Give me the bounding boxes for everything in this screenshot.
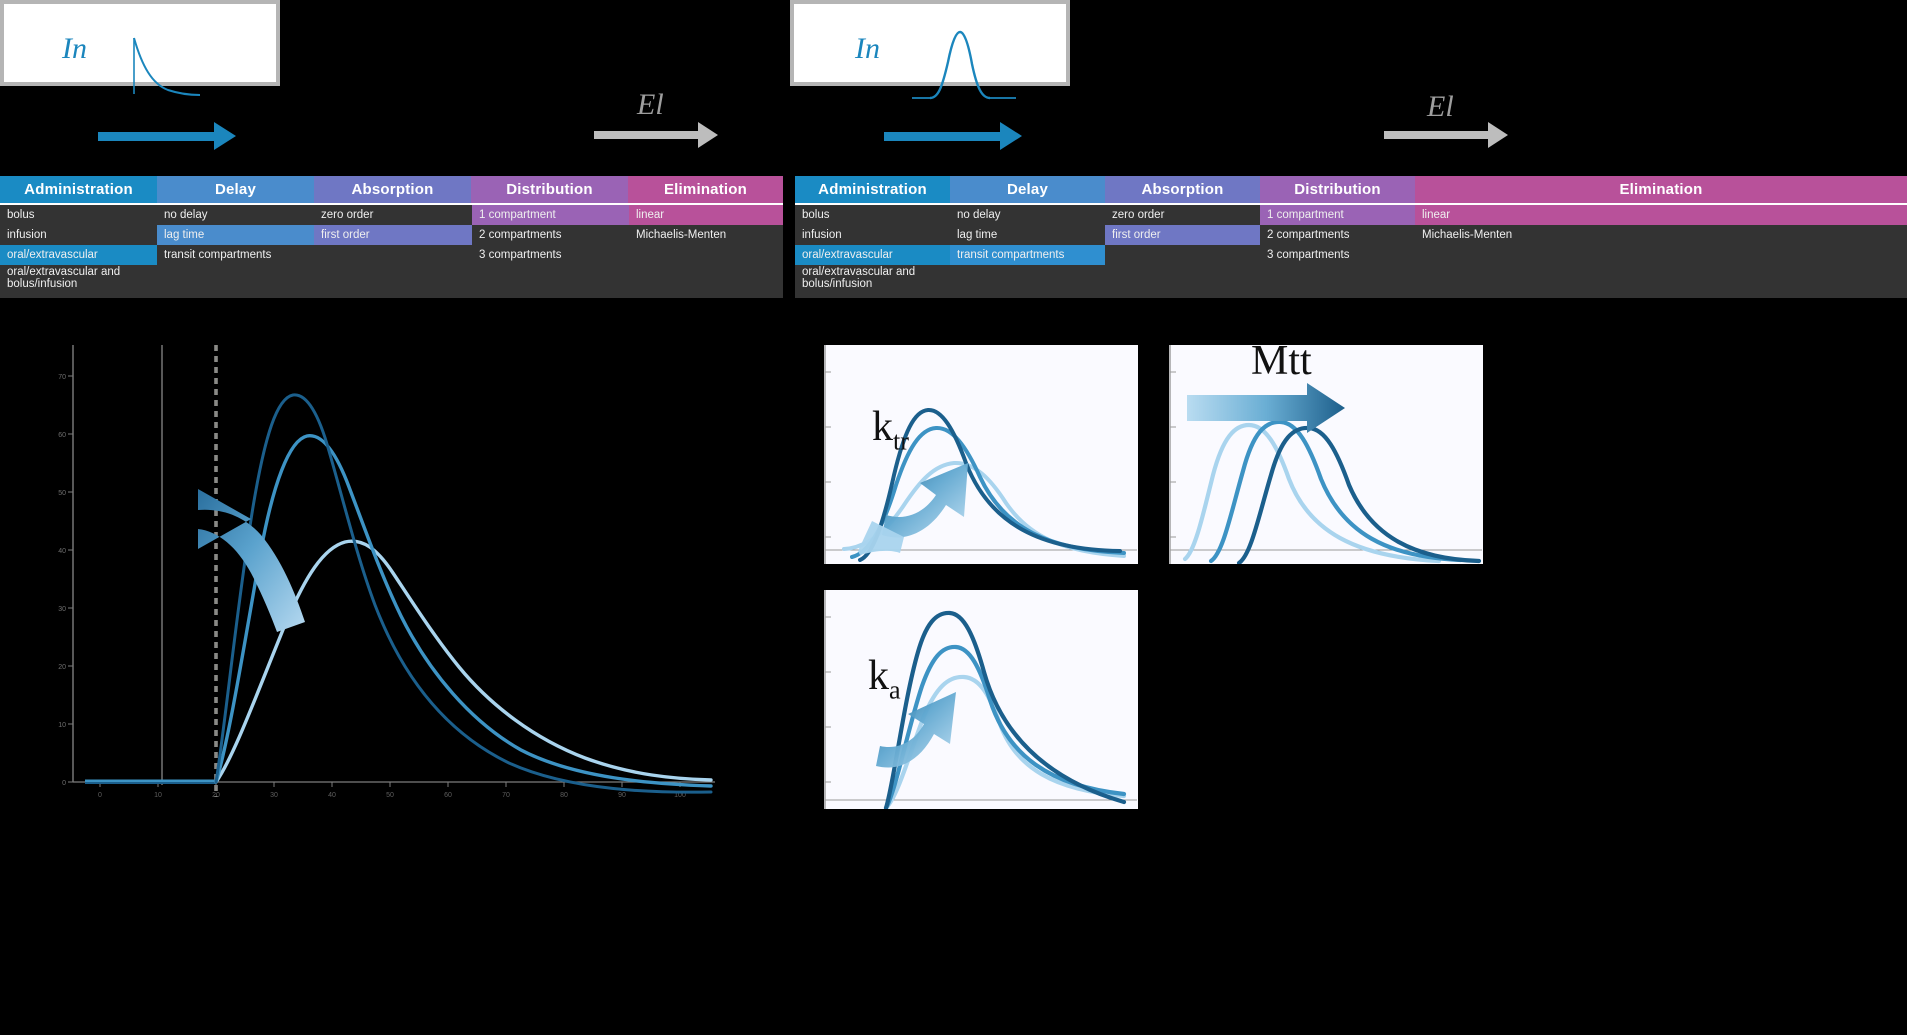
header-distribution: Distribution <box>471 176 628 203</box>
right-input-curve-icon <box>908 26 1018 108</box>
cell-admin-bolus[interactable]: bolus <box>795 205 950 225</box>
cell-elimination-linear[interactable]: linear <box>1415 205 1907 225</box>
ka-panel: ka <box>824 590 1138 809</box>
svg-text:10: 10 <box>58 722 66 729</box>
cell-elimination-michaelis-menten[interactable]: Michaelis-Menten <box>629 225 783 245</box>
cell-elimination-empty <box>629 245 783 265</box>
svg-text:40: 40 <box>328 792 336 799</box>
cell-absorption-empty <box>1105 245 1260 265</box>
cell-delay-no-delay[interactable]: no delay <box>157 205 314 225</box>
cell-elimination-empty <box>1415 245 1907 265</box>
cell-absorption-empty <box>314 245 472 265</box>
cell-distribution-3-compartments[interactable]: 3 compartments <box>1260 245 1415 265</box>
table-row: oral/extravascular and bolus/infusion <box>795 265 1907 295</box>
main-concentration-time-chart: 70 60 50 40 30 20 10 0 0 10 20 30 40 50 … <box>55 335 735 820</box>
svg-text:60: 60 <box>58 432 66 439</box>
table-row: oral/extravascular transit compartments … <box>0 245 783 265</box>
series-slow-absorption <box>216 541 711 782</box>
cell-elimination-linear[interactable]: linear <box>629 205 783 225</box>
header-absorption: Absorption <box>314 176 471 203</box>
mtt-label: Mtt <box>1251 337 1312 385</box>
cell-delay-lag-time[interactable]: lag time <box>157 225 314 245</box>
right-table-body: bolus no delay zero order 1 compartment … <box>795 205 1907 298</box>
cell-absorption-first-order[interactable]: first order <box>1105 225 1260 245</box>
header-elimination: Elimination <box>1415 176 1907 203</box>
table-row: infusion lag time first order 2 compartm… <box>795 225 1907 245</box>
cell-distribution-2-compartments[interactable]: 2 compartments <box>472 225 629 245</box>
cell-admin-infusion[interactable]: infusion <box>0 225 157 245</box>
mtt-panel-svg <box>1169 345 1483 564</box>
svg-text:40: 40 <box>58 548 66 555</box>
table-row: oral/extravascular transit compartments … <box>795 245 1907 265</box>
right-input-arrow-icon <box>884 132 1002 141</box>
cell-admin-bolus[interactable]: bolus <box>0 205 157 225</box>
cell-admin-oral-and-bolus[interactable]: oral/extravascular and bolus/infusion <box>0 265 152 295</box>
ka-base: k <box>868 653 889 699</box>
cell-delay-transit-compartments[interactable]: transit compartments <box>157 245 314 265</box>
left-elimination-arrow-icon <box>594 131 700 139</box>
left-parameter-table: Administration Delay Absorption Distribu… <box>0 176 783 298</box>
cell-distribution-1-compartment[interactable]: 1 compartment <box>472 205 629 225</box>
cell-distribution-3-compartments[interactable]: 3 compartments <box>472 245 629 265</box>
ka-subscript: a <box>889 675 901 704</box>
svg-text:90: 90 <box>618 792 626 799</box>
cell-admin-oral-extravascular[interactable]: oral/extravascular <box>795 245 950 265</box>
header-distribution: Distribution <box>1260 176 1415 203</box>
main-chart-svg: 70 60 50 40 30 20 10 0 0 10 20 30 40 50 … <box>55 335 735 820</box>
cell-absorption-zero-order[interactable]: zero order <box>1105 205 1260 225</box>
left-input-curve-icon <box>128 32 208 102</box>
cell-absorption-zero-order[interactable]: zero order <box>314 205 472 225</box>
left-input-arrow-icon <box>98 132 216 141</box>
cell-admin-oral-extravascular[interactable]: oral/extravascular <box>0 245 157 265</box>
left-table-body: bolus no delay zero order 1 compartment … <box>0 205 783 298</box>
header-administration: Administration <box>0 176 157 203</box>
cell-delay-no-delay[interactable]: no delay <box>950 205 1105 225</box>
table-row: bolus no delay zero order 1 compartment … <box>0 205 783 225</box>
table-row: infusion lag time first order 2 compartm… <box>0 225 783 245</box>
cell-admin-infusion[interactable]: infusion <box>795 225 950 245</box>
svg-text:50: 50 <box>58 490 66 497</box>
svg-text:20: 20 <box>58 664 66 671</box>
left-in-label: In <box>62 32 87 66</box>
ktr-label: ktr <box>872 403 909 456</box>
mtt-panel: Mtt <box>1169 345 1483 564</box>
right-parameter-table: Administration Delay Absorption Distribu… <box>795 176 1907 298</box>
right-in-label: In <box>855 32 880 66</box>
ktr-base: k <box>872 404 893 450</box>
cell-distribution-1-compartment[interactable]: 1 compartment <box>1260 205 1415 225</box>
svg-text:10: 10 <box>154 792 162 799</box>
left-schematic: In El <box>0 0 790 175</box>
right-table-header-row: Administration Delay Absorption Distribu… <box>795 176 1907 203</box>
header-absorption: Absorption <box>1105 176 1260 203</box>
svg-text:30: 30 <box>58 606 66 613</box>
cell-admin-oral-and-bolus[interactable]: oral/extravascular and bolus/infusion <box>795 265 945 295</box>
header-delay: Delay <box>157 176 314 203</box>
svg-text:0: 0 <box>98 792 102 799</box>
left-el-label: El <box>637 88 664 122</box>
svg-text:30: 30 <box>270 792 278 799</box>
cell-absorption-first-order[interactable]: first order <box>314 225 472 245</box>
svg-text:80: 80 <box>560 792 568 799</box>
table-row: oral/extravascular and bolus/infusion <box>0 265 783 295</box>
right-schematic: In El <box>790 0 1907 175</box>
table-row: bolus no delay zero order 1 compartment … <box>795 205 1907 225</box>
left-table-header-row: Administration Delay Absorption Distribu… <box>0 176 783 203</box>
cell-distribution-2-compartments[interactable]: 2 compartments <box>1260 225 1415 245</box>
header-elimination: Elimination <box>628 176 783 203</box>
cell-elimination-michaelis-menten[interactable]: Michaelis-Menten <box>1415 225 1907 245</box>
svg-text:70: 70 <box>58 374 66 381</box>
cell-delay-transit-compartments[interactable]: transit compartments <box>950 245 1105 265</box>
header-administration: Administration <box>795 176 950 203</box>
main-chart-annotation-arrow <box>198 489 456 820</box>
svg-text:0: 0 <box>62 780 66 787</box>
svg-text:20: 20 <box>212 792 220 799</box>
header-delay: Delay <box>950 176 1105 203</box>
ktr-panel: ktr <box>824 345 1138 564</box>
cell-delay-lag-time[interactable]: lag time <box>950 225 1105 245</box>
right-el-label: El <box>1427 90 1454 124</box>
svg-text:70: 70 <box>502 792 510 799</box>
right-elimination-arrow-icon <box>1384 131 1490 139</box>
ka-label: ka <box>868 652 901 705</box>
ktr-subscript: tr <box>893 426 909 455</box>
